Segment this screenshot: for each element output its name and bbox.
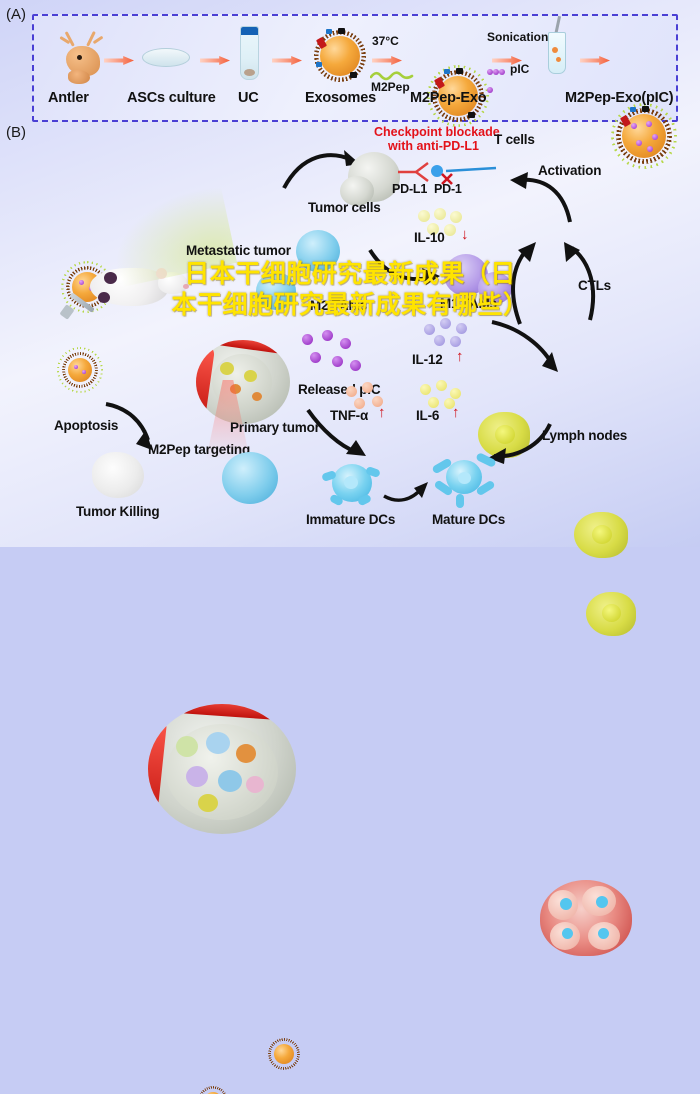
label-m2-tams: M2 TAMs xyxy=(310,298,367,313)
exosome-icon xyxy=(320,36,360,76)
label-tumor-cells: Tumor cells xyxy=(308,200,381,215)
targeted-macrophage-icon xyxy=(222,452,278,504)
il10-trend-arrow: ↓ xyxy=(461,226,469,243)
injection-glow xyxy=(103,184,237,287)
m1-tam-cell-icon-2 xyxy=(256,272,296,310)
sonicator-icon xyxy=(548,32,566,74)
condition-pic: pIC xyxy=(510,62,529,76)
immature-dc-icon xyxy=(322,456,382,510)
label-apoptosis: Apoptosis xyxy=(54,418,118,433)
arrow-dc-maturation xyxy=(382,478,434,506)
metastatic-tumor-icon xyxy=(196,340,290,424)
label-t-cells: T cells xyxy=(494,132,535,147)
label-activation: Activation xyxy=(538,163,601,178)
loaded-exosome-icon xyxy=(622,114,666,158)
ctl-cell-icon-1 xyxy=(574,512,628,558)
petri-dish-icon xyxy=(142,48,190,67)
centrifuge-tube-icon xyxy=(240,26,259,80)
apoptotic-cell-icon xyxy=(92,452,144,498)
free-exosome-icon-2 xyxy=(68,358,92,382)
arrow-to-m2-tams xyxy=(368,246,444,286)
pic-dots-icon xyxy=(487,62,507,98)
condition-m2pep: M2Pep xyxy=(371,80,410,94)
label-checkpoint-blockade-line2: with anti-PD-L1 xyxy=(388,139,479,153)
label-il6: IL-6 xyxy=(416,408,439,423)
mature-dc-icon xyxy=(432,450,496,508)
label-tumor-killing: Tumor Killing xyxy=(76,504,159,519)
deer-icon xyxy=(52,30,114,84)
tnfa-trend-arrow: ↑ xyxy=(378,404,386,421)
figure-canvas: (A) Antler ASCs culture UC Exosomes 37°C xyxy=(0,0,700,547)
label-m1-tams: M1 TAMs xyxy=(440,296,497,311)
label-immature-dcs: Immature DCs xyxy=(306,512,395,527)
condition-temperature: 37°C xyxy=(372,34,399,48)
condition-sonication: Sonication xyxy=(487,30,548,44)
primary-tumor-icon xyxy=(148,704,296,834)
label-il10: IL-10 xyxy=(414,230,445,245)
label-pd-1: PD-1 xyxy=(434,182,462,196)
arrow-maturedc-to-lymph xyxy=(488,412,558,460)
targeting-exosome-icon-1 xyxy=(274,1044,294,1064)
label-pd-l1: PD-L1 xyxy=(392,182,427,196)
step-label-uc: UC xyxy=(238,90,259,106)
il12-cytokine-dots xyxy=(422,318,478,348)
arrow-activation xyxy=(506,170,576,226)
step-label-m2pep-exo-pic: M2Pep-Exo(pIC) xyxy=(565,90,673,106)
label-il12: IL-12 xyxy=(412,352,443,367)
arrow-m1-to-lymph xyxy=(490,320,564,374)
panel-b-tag: (B) xyxy=(6,124,26,141)
arrow-m1-up-to-ctl xyxy=(490,240,550,326)
step-label-antler: Antler xyxy=(48,90,89,106)
il12-trend-arrow: ↑ xyxy=(456,348,464,365)
released-pic-dots xyxy=(300,330,366,382)
step-label-exosomes: Exosomes xyxy=(305,90,376,106)
il6-cytokine-dots xyxy=(418,380,468,410)
label-metastatic-tumor: Metastatic tumor xyxy=(186,243,291,258)
ctl-cell-icon-2 xyxy=(586,592,636,636)
label-checkpoint-blockade-line1: Checkpoint blockade xyxy=(374,125,500,139)
label-mature-dcs: Mature DCs xyxy=(432,512,505,527)
step-label-m2pep-exo: M2Pep-Exo xyxy=(410,90,486,106)
panel-a-tag: (A) xyxy=(6,6,26,23)
m1-tam-cell-icon-1 xyxy=(296,230,340,272)
il6-trend-arrow: ↑ xyxy=(452,404,460,421)
step-label-asc-culture: ASCs culture xyxy=(127,90,216,106)
arrow-lymph-to-ctl xyxy=(546,240,604,324)
lymph-node-icon xyxy=(540,880,632,956)
targeting-exosome-icon-2 xyxy=(204,1092,222,1094)
